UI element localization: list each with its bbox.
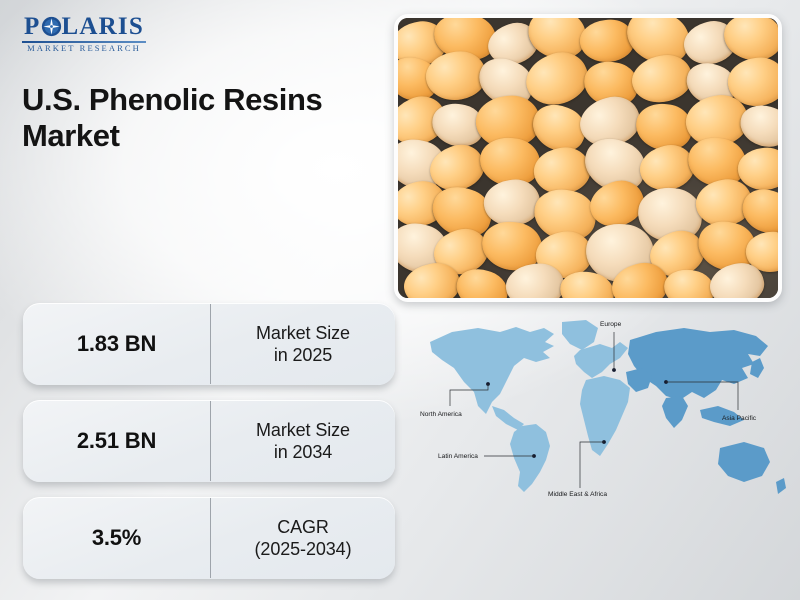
map-region-north-america-shape (430, 327, 554, 414)
map-region-africa-shape (580, 376, 630, 456)
logo-word-prefix: P (24, 14, 40, 39)
map-region-oceania-shape (718, 442, 770, 482)
page-title: U.S. Phenolic Resins Market (22, 82, 394, 154)
stat-label-line1: Market Size (256, 322, 350, 345)
map-label-north-america: North America (420, 411, 462, 418)
map-region-asia-pacific-shape (628, 328, 768, 400)
map-label-latin-america: Latin America (438, 453, 478, 460)
stat-label-line1: Market Size (256, 419, 350, 442)
stat-label-line1: CAGR (277, 516, 329, 539)
stat-card-market-size-2025[interactable]: 1.83 BN Market Size in 2025 (23, 303, 395, 385)
logo-wordmark: P LARIS (22, 14, 146, 39)
map-label-asia-pacific: Asia Pacific (722, 415, 757, 422)
stat-label: CAGR (2025-2034) (211, 497, 395, 579)
compass-star-icon (41, 16, 62, 37)
map-label-europe: Europe (600, 321, 622, 328)
stat-value: 1.83 BN (23, 303, 210, 385)
map-central-america-shape (492, 406, 524, 430)
polaris-logo[interactable]: P LARIS MARKET RESEARCH (22, 14, 146, 53)
photo-granule-cluster (398, 18, 778, 298)
stat-label-line2: in 2025 (274, 344, 332, 367)
stat-label: Market Size in 2034 (211, 400, 395, 482)
world-regions-map: North America Europe Asia Pacific Latin … (404, 306, 796, 522)
stat-value: 3.5% (23, 497, 210, 579)
logo-tagline: MARKET RESEARCH (22, 44, 146, 53)
stat-label: Market Size in 2025 (211, 303, 395, 385)
map-new-zealand-shape (776, 478, 786, 494)
market-stats-list: 1.83 BN Market Size in 2025 2.51 BN Mark… (23, 303, 395, 594)
logo-word-suffix: LARIS (62, 14, 144, 39)
map-region-latin-america-shape (510, 424, 550, 492)
stat-card-cagr[interactable]: 3.5% CAGR (2025-2034) (23, 497, 395, 579)
phenolic-resin-granules-photo (394, 14, 782, 302)
map-landmasses (430, 320, 786, 494)
stat-label-line2: in 2034 (274, 441, 332, 464)
map-label-middle-east-africa: Middle East & Africa (548, 491, 607, 498)
stat-label-line2: (2025-2034) (255, 538, 352, 561)
stat-card-market-size-2034[interactable]: 2.51 BN Market Size in 2034 (23, 400, 395, 482)
map-india-shape (662, 396, 688, 428)
map-greenland-shape (562, 320, 598, 350)
stat-value: 2.51 BN (23, 400, 210, 482)
